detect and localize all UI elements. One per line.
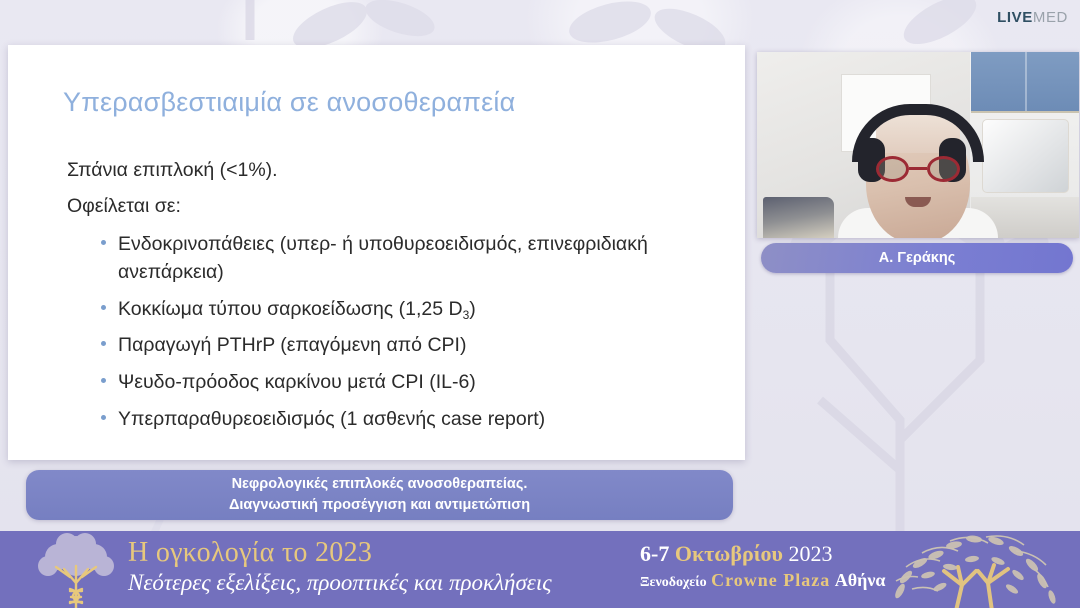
bullet-dot-icon	[101, 341, 106, 346]
list-item: Υπερπαραθυρεοειδισμός (1 ασθενής case re…	[101, 406, 705, 434]
list-item: Ενδοκρινοπάθειες (υπερ- ή υποθυρεοειδισμ…	[101, 231, 705, 286]
eyeglasses-icon	[876, 156, 960, 182]
video-desk-items	[763, 197, 834, 238]
video-cabinet	[971, 52, 1079, 113]
slide-body-line-2: Οφείλεται σε:	[63, 192, 705, 222]
conference-subtitle: Νεότερες εξελίξεις, προοπτικές και προκλ…	[128, 569, 552, 596]
session-banner-line-1: Νεφρολογικές επιπλοκές ανοσοθεραπείας.	[232, 474, 528, 495]
conference-tree-dna-logo	[22, 533, 130, 608]
olive-tree-decoration	[866, 531, 1080, 608]
bullet-dot-icon	[101, 240, 106, 245]
session-banner-line-2: Διαγνωστική προσέγγιση και αντιμετώπιση	[229, 495, 530, 516]
livemed-logo: LIVEMED	[997, 9, 1068, 26]
slide-bullet-list: Ενδοκρινοπάθειες (υπερ- ή υποθυρεοειδισμ…	[63, 231, 705, 433]
speaker-name-badge: Α. Γεράκης	[761, 243, 1073, 273]
list-item: Κοκκίωμα τύπου σαρκοείδωσης (1,25 D3)	[101, 296, 705, 324]
video-mirror	[982, 119, 1069, 193]
speaker-name-label: Α. Γεράκης	[879, 250, 956, 266]
list-item-label: Ψευδο-πρόοδος καρκίνου μετά CPI (IL-6)	[118, 371, 476, 393]
speaker-video-feed[interactable]	[757, 52, 1079, 238]
venue-prefix: Ξενοδοχείο	[640, 575, 707, 590]
conference-title-block: Η ογκολογία το 2023 Νεότερες εξελίξεις, …	[128, 537, 552, 596]
venue-hotel-name: Crowne Plaza	[711, 570, 830, 590]
conference-date-days: 6-7	[640, 541, 669, 566]
bullet-dot-icon	[101, 305, 106, 310]
conference-dates: 6-7 Οκτωβρίου 2023	[640, 541, 885, 567]
logo-med-text: MED	[1033, 9, 1068, 26]
list-item-tail: )	[469, 298, 476, 320]
event-footer-bar: Η ογκολογία το 2023 Νεότερες εξελίξεις, …	[0, 531, 1080, 608]
list-item-subscript: 3	[463, 308, 470, 322]
bullet-dot-icon	[101, 415, 106, 420]
conference-title: Η ογκολογία το 2023	[128, 537, 552, 568]
list-item: Ψευδο-πρόοδος καρκίνου μετά CPI (IL-6)	[101, 369, 705, 397]
list-item-label: Κοκκίωμα τύπου σαρκοείδωσης (1,25 D	[118, 298, 463, 320]
conference-date-month: Οκτωβρίου	[675, 541, 783, 566]
list-item-label: Παραγωγή PTHrP (επαγόμενη από CPI)	[118, 334, 466, 356]
list-item-label: Ενδοκρινοπάθειες (υπερ- ή υποθυρεοειδισμ…	[118, 233, 648, 283]
conference-venue: Ξενοδοχείο Crowne Plaza Αθήνα	[640, 569, 885, 592]
conference-date-year: 2023	[788, 541, 832, 566]
slide-body-line-1: Σπάνια επιπλοκή (<1%).	[63, 156, 705, 186]
bullet-dot-icon	[101, 378, 106, 383]
list-item-label: Υπερπαραθυρεοειδισμός (1 ασθενής case re…	[118, 408, 545, 430]
list-item: Παραγωγή PTHrP (επαγόμενη από CPI)	[101, 332, 705, 360]
slide-title: Υπερασβεστιαιμία σε ανοσοθεραπεία	[63, 87, 705, 118]
conference-date-venue-block: 6-7 Οκτωβρίου 2023 Ξενοδοχείο Crowne Pla…	[640, 541, 885, 592]
presentation-slide: Υπερασβεστιαιμία σε ανοσοθεραπεία Σπάνια…	[8, 45, 745, 460]
session-title-banner: Νεφρολογικές επιπλοκές ανοσοθεραπείας. Δ…	[26, 470, 733, 520]
logo-live-text: LIVE	[997, 9, 1033, 26]
